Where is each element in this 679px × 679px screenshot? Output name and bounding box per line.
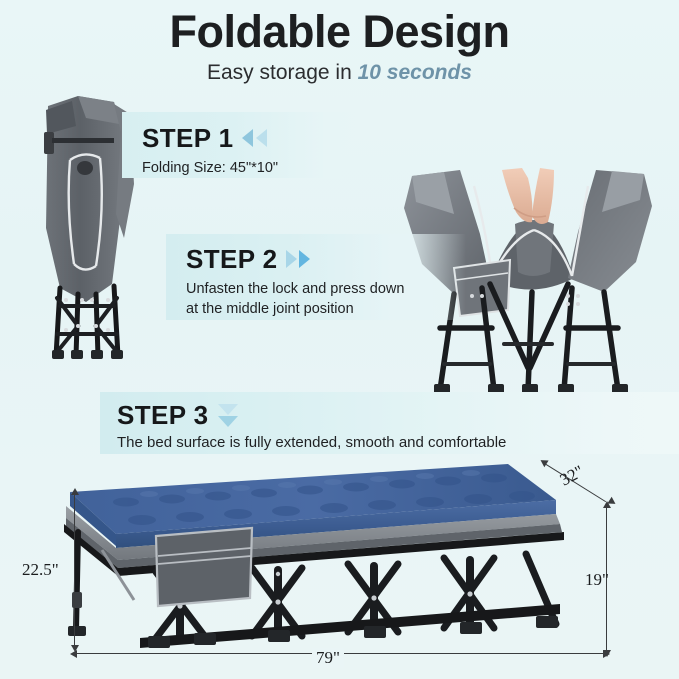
arrowhead-up-icon [71, 488, 79, 495]
dimension-label-22-5: 22.5" [22, 560, 59, 580]
dimension-line-height-22 [74, 492, 75, 648]
triangle-right-icon [299, 250, 310, 268]
step-2-description-line-1: Unfasten the lock and press down [186, 279, 466, 299]
subtitle-highlight: 10 seconds [358, 61, 472, 84]
dimension-label-19: 19" [585, 570, 609, 590]
subtitle-prefix: Easy storage in [207, 61, 358, 84]
step-3-panel: STEP 3 The bed surface is fully extended… [100, 392, 679, 454]
arrowhead-down-icon [603, 650, 611, 657]
step-1-panel: STEP 1 Folding Size: 45"*10" [122, 112, 384, 178]
step-1-description: Folding Size: 45"*10" [122, 151, 384, 178]
arrowhead-left-icon [70, 650, 77, 658]
step-2-heading: STEP 2 [166, 234, 466, 272]
triangle-left-icon [242, 129, 253, 147]
header: Foldable Design Easy storage in 10 secon… [0, 8, 679, 84]
page-subtitle: Easy storage in 10 seconds [0, 61, 679, 84]
triangle-left-icon [256, 129, 267, 147]
product-infographic: Foldable Design Easy storage in 10 secon… [0, 0, 679, 679]
dimension-label-79: 79" [312, 648, 344, 668]
triangle-down-icon [218, 404, 238, 415]
step-2-description: Unfasten the lock and press down at the … [166, 272, 466, 319]
page-title: Foldable Design [0, 8, 679, 56]
step-3-label: STEP 3 [117, 402, 209, 428]
step-1-arrows [242, 129, 270, 147]
open-cot-image [56, 458, 580, 656]
step-3-arrows [218, 404, 238, 428]
step-3-description: The bed surface is fully extended, smoot… [100, 428, 679, 454]
step-2-label: STEP 2 [186, 246, 278, 272]
step-2-panel: STEP 2 Unfasten the lock and press down … [166, 234, 466, 320]
triangle-down-icon [218, 416, 238, 427]
step-3-heading: STEP 3 [100, 392, 679, 428]
step-2-description-line-2: at the middle joint position [186, 299, 466, 319]
step-2-arrows [286, 250, 312, 268]
step-1-label: STEP 1 [142, 125, 234, 151]
side-organizer-pocket [156, 528, 252, 606]
step-1-heading: STEP 1 [122, 112, 384, 151]
triangle-right-icon [286, 250, 297, 268]
